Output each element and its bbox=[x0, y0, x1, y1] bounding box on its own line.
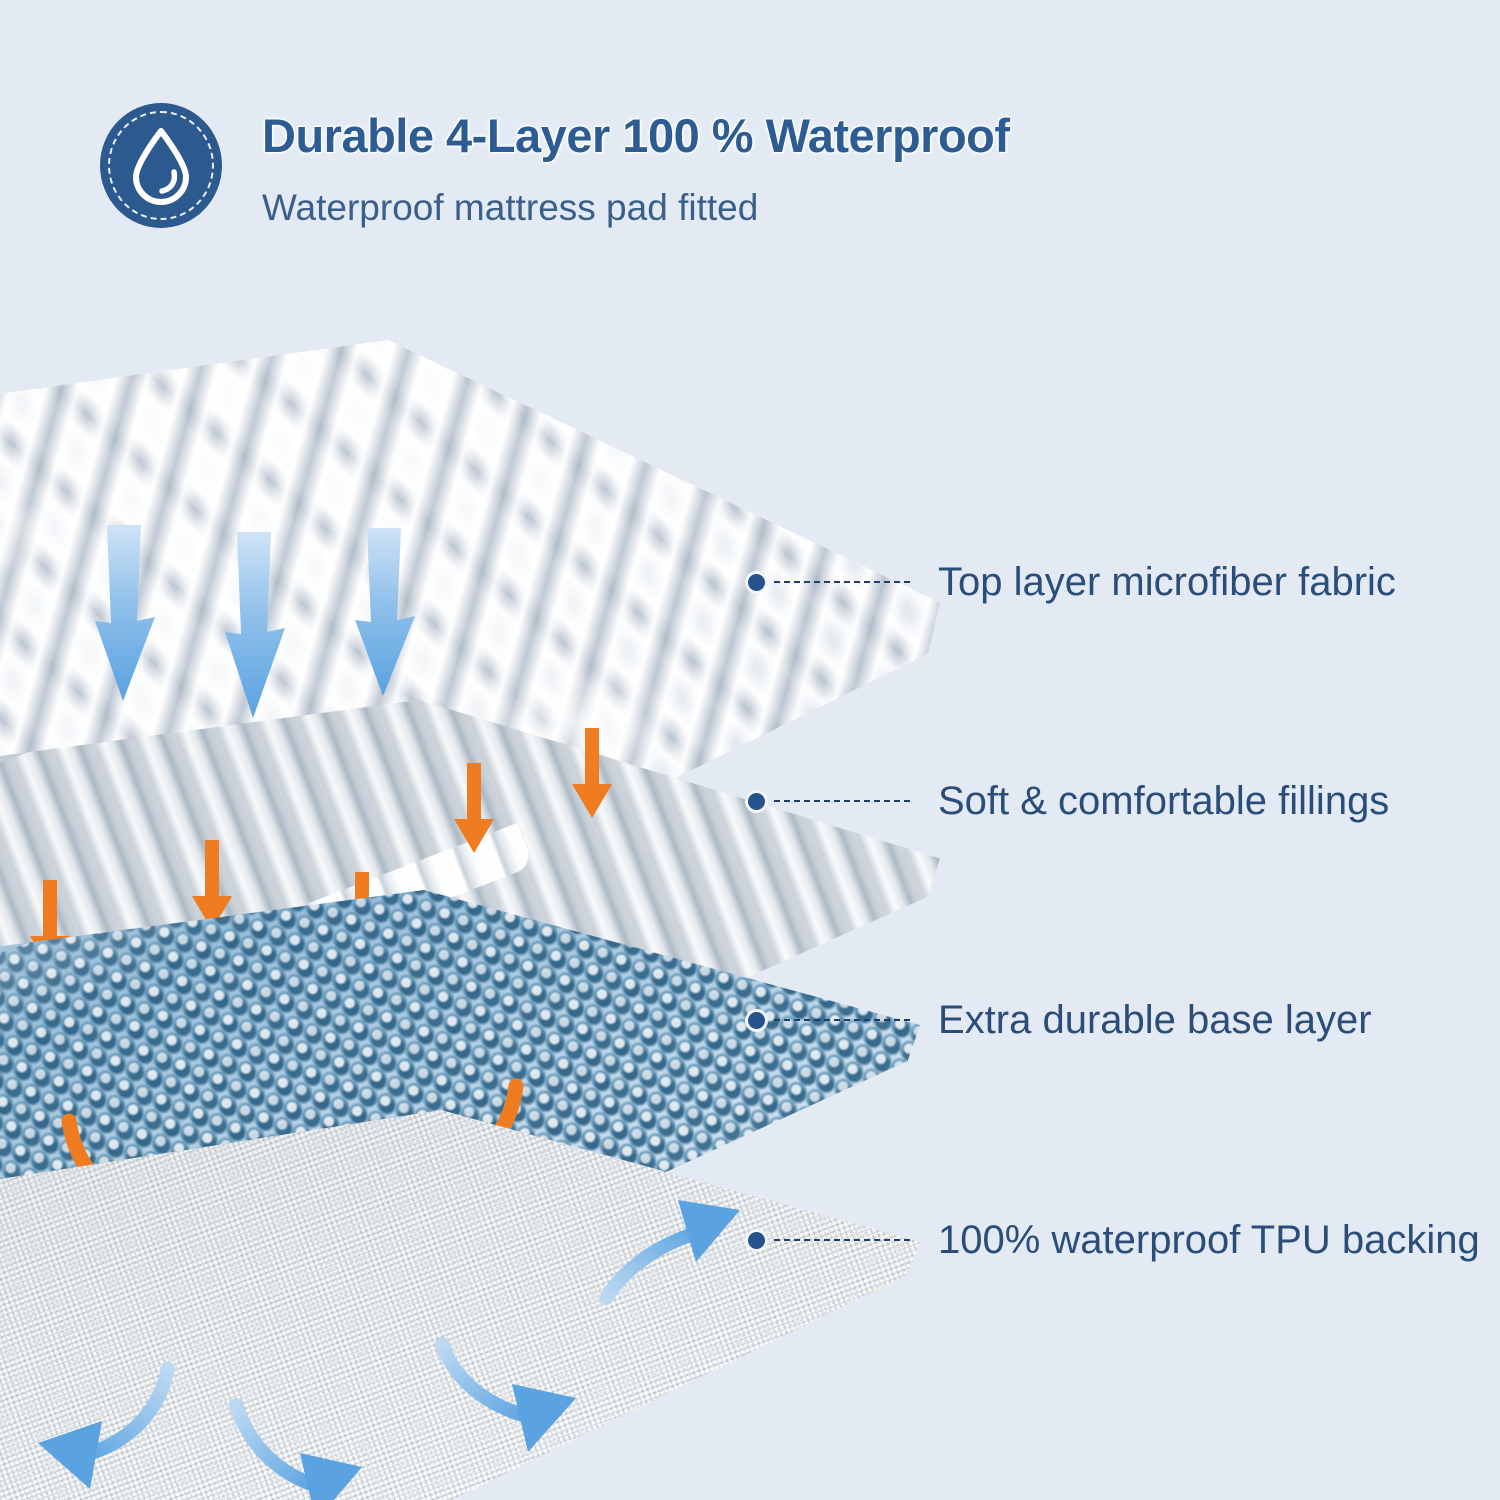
callout-label: Extra durable base layer bbox=[938, 998, 1372, 1042]
callout-tpu-layer[interactable]: 100% waterproof TPU backing bbox=[748, 1223, 1480, 1257]
infographic-canvas: Durable 4-Layer 100 % Waterproof Waterpr… bbox=[0, 0, 1500, 1500]
callout-dashed-line bbox=[774, 1239, 910, 1241]
callout-dashed-line bbox=[774, 581, 910, 583]
callout-dashed-line bbox=[774, 800, 910, 802]
mattress-pad-exploded-view bbox=[0, 300, 1500, 1500]
layer-tpu-surface bbox=[0, 1110, 920, 1500]
page-title: Durable 4-Layer 100 % Waterproof bbox=[262, 108, 1010, 164]
page-subtitle: Waterproof mattress pad fitted bbox=[262, 185, 758, 231]
callout-dot bbox=[748, 793, 765, 810]
callout-fillings-layer[interactable]: Soft & comfortable fillings bbox=[748, 784, 1389, 818]
water-droplet-icon bbox=[100, 103, 222, 228]
callout-dot bbox=[748, 1012, 765, 1029]
callout-dashed-line bbox=[774, 1019, 910, 1021]
callout-dot bbox=[748, 1232, 765, 1249]
callout-top-layer[interactable]: Top layer microfiber fabric bbox=[748, 565, 1396, 599]
callout-dot bbox=[748, 574, 765, 591]
callout-label: 100% waterproof TPU backing bbox=[938, 1218, 1480, 1262]
callout-base-layer[interactable]: Extra durable base layer bbox=[748, 1003, 1372, 1037]
callout-label: Soft & comfortable fillings bbox=[938, 779, 1389, 823]
header: Durable 4-Layer 100 % Waterproof Waterpr… bbox=[0, 0, 1500, 300]
callout-label: Top layer microfiber fabric bbox=[938, 560, 1396, 604]
layer-tpu-backing bbox=[0, 1110, 920, 1500]
